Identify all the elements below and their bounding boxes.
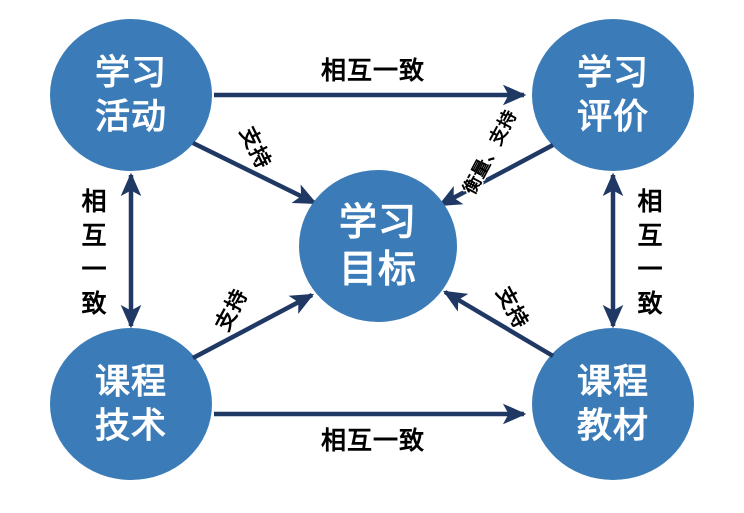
edge-label-mutual-consistency-top: 相互一致 — [321, 57, 425, 85]
edge-label-mutual-consistency-left: 相 互 一 致 — [81, 188, 107, 318]
node-course-technology[interactable]: 课程 技术 — [50, 328, 212, 480]
node-label-line1: 学习 — [339, 201, 417, 244]
edge-evaluation-to-objectives: 衡量、支持 — [440, 106, 553, 205]
vlabel-char: 互 — [81, 222, 106, 250]
node-label-line2: 活动 — [95, 98, 167, 137]
node-label-line1: 课程 — [95, 363, 167, 402]
node-course-materials[interactable]: 课程 教材 — [532, 328, 694, 480]
vlabel-char: 致 — [81, 290, 107, 318]
edge-activities-to-evaluation: 相互一致 — [214, 57, 524, 95]
node-label-line1: 课程 — [577, 363, 649, 402]
node-circle[interactable] — [532, 19, 694, 171]
node-label-line2: 技术 — [95, 407, 167, 446]
vlabel-char: 相 — [81, 188, 106, 216]
vlabel-char: 相 — [637, 188, 662, 216]
edge-technology-to-objectives: 支持 — [193, 285, 312, 358]
node-label-line1: 学习 — [577, 53, 649, 93]
node-circle[interactable] — [50, 328, 212, 480]
edge-label-measure-support: 衡量、支持 — [459, 106, 521, 198]
edge-technology-to-materials: 相互一致 — [214, 414, 524, 455]
edge-activities-technology: 相 互 一 致 — [81, 175, 131, 326]
node-label-line2: 目标 — [339, 249, 417, 291]
edge-label-mutual-consistency-right: 相 互 一 致 — [637, 188, 663, 318]
node-circle[interactable] — [50, 19, 212, 171]
edge-label-mutual-consistency-bottom: 相互一致 — [321, 427, 425, 455]
vlabel-char: 致 — [637, 290, 663, 318]
node-circle[interactable] — [532, 328, 694, 480]
node-label-line1: 学习 — [95, 53, 167, 93]
edge-evaluation-materials: 相 互 一 致 — [613, 175, 663, 326]
edge-activities-to-objectives: 支持 — [193, 123, 315, 203]
vlabel-char: 一 — [637, 256, 662, 284]
node-learning-objectives[interactable]: 学习 目标 — [299, 170, 457, 322]
diagram-svg: 学习 活动 学习 评价 课程 技术 课程 教材 相互一致 相互一致 — [0, 0, 744, 513]
node-learning-evaluation[interactable]: 学习 评价 — [532, 19, 694, 171]
node-label-line2: 评价 — [577, 98, 649, 137]
edge-materials-to-objectives: 支持 — [445, 283, 553, 356]
node-learning-activities[interactable]: 学习 活动 — [50, 19, 212, 171]
edge-line — [193, 295, 312, 358]
vlabel-char: 一 — [81, 256, 106, 284]
node-circle[interactable] — [299, 170, 457, 322]
diagram-canvas: 学习 活动 学习 评价 课程 技术 课程 教材 相互一致 相互一致 — [0, 0, 744, 513]
node-label-line2: 教材 — [577, 407, 649, 446]
vlabel-char: 互 — [637, 222, 662, 250]
